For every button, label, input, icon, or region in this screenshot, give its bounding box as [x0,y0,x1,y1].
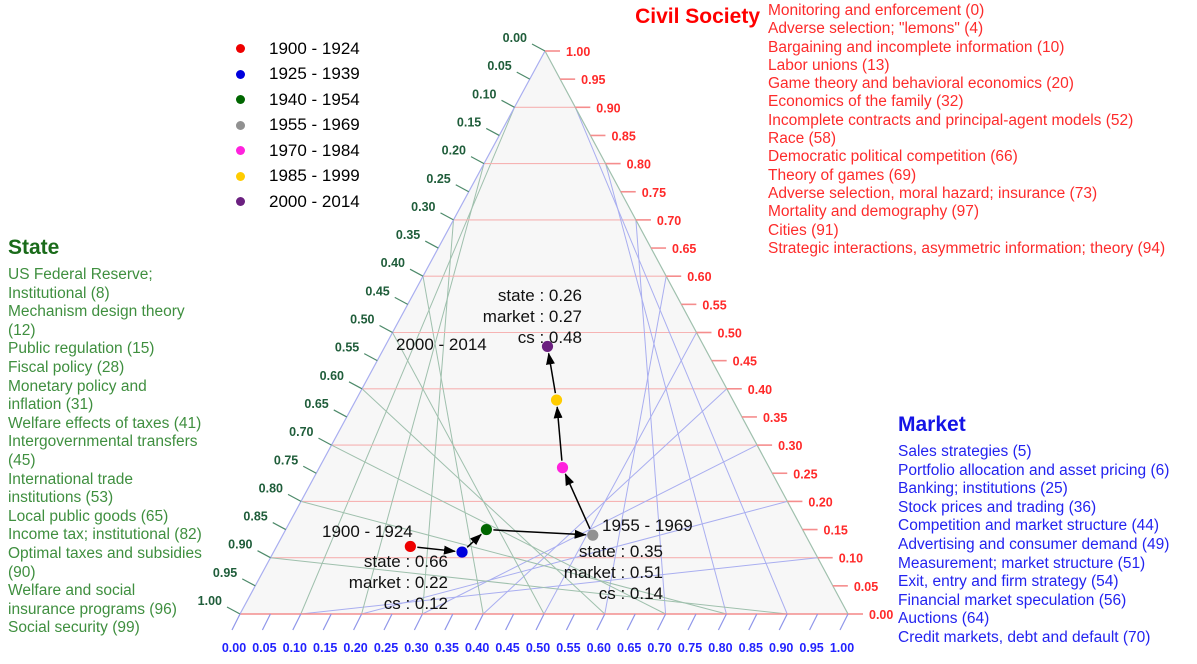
tick-label-left: 0.45 [365,284,389,298]
tick-label-right: 0.05 [854,580,878,594]
list-item: Social security (99) [8,619,254,638]
list-item: Stock prices and trading (36) [898,499,1197,518]
market-topic-list: Sales strategies (5)Portfolio allocation… [898,443,1197,648]
legend-color-dot-icon [236,70,245,79]
list-item: Cities (91) [768,222,1196,240]
state-panel: State US Federal Reserve; Institutional … [8,236,254,638]
tick-label-right: 0.00 [869,608,893,622]
tick-label-bottom: 0.50 [526,641,550,655]
list-item: Portfolio allocation and asset pricing (… [898,462,1197,481]
market-panel: Market Sales strategies (5)Portfolio all… [898,413,1197,648]
annotation-cs-value: cs : 0.12 [384,594,448,613]
list-item: Mortality and demography (97) [768,203,1196,221]
tick-label-bottom: 0.15 [313,641,337,655]
tick-mark-bottom [475,614,483,630]
list-item: Intergovernmental transfers (45) [8,433,254,470]
tick-mark-bottom [262,614,270,630]
list-item: Incomplete contracts and principal-agent… [768,112,1196,130]
data-point[interactable] [557,462,568,473]
list-item: Fiscal policy (28) [8,359,254,378]
list-item: Advertising and consumer demand (49) [898,536,1197,555]
tick-label-bottom: 0.10 [283,641,307,655]
list-item: Credit markets, debt and default (70) [898,629,1197,648]
tick-label-left: 0.50 [350,313,374,327]
annotation-cs-value: cs : 0.48 [518,328,582,347]
legend-item[interactable]: 1925 - 1939 [232,62,360,88]
data-point[interactable] [551,394,562,405]
list-item: Financial market speculation (56) [898,592,1197,611]
tick-mark-left [517,72,530,79]
legend-item[interactable]: 1970 - 1984 [232,138,360,164]
legend-item[interactable]: 1985 - 1999 [232,164,360,190]
tick-mark-bottom [749,614,757,630]
list-item: Auctions (64) [898,610,1197,629]
list-item: Bargaining and incomplete information (1… [768,39,1196,57]
legend-item[interactable]: 1940 - 1954 [232,87,360,113]
data-point[interactable] [405,541,416,552]
tick-label-bottom: 0.85 [739,641,763,655]
tick-mark-bottom [840,614,848,630]
legend-color-dot-icon [236,95,245,104]
annotation-state-value: state : 0.26 [498,286,582,305]
annotation-market-value: market : 0.22 [349,573,448,592]
tick-mark-bottom [293,614,301,630]
tick-mark-left [334,410,347,417]
tick-mark-left [258,551,271,558]
tick-label-right: 0.20 [808,495,832,509]
tick-label-bottom: 0.35 [435,641,459,655]
list-item: Monetary policy and inflation (31) [8,378,254,415]
tick-mark-left [502,100,515,107]
list-item: Monitoring and enforcement (0) [768,2,1196,20]
tick-label-right: 0.55 [702,298,726,312]
tick-mark-bottom [688,614,696,630]
tick-label-bottom: 0.70 [647,641,671,655]
list-item: Optimal taxes and subsidies (90) [8,545,254,582]
list-item: Public regulation (15) [8,340,254,359]
list-item: Income tax; institutional (82) [8,526,254,545]
list-item: Adverse selection; "lemons" (4) [768,20,1196,38]
tick-label-bottom: 0.00 [222,641,246,655]
legend-item-label: 2000 - 2014 [269,192,360,212]
tick-mark-left [380,326,393,333]
tick-label-right: 0.15 [824,524,848,538]
civil-society-topic-list: Monitoring and enforcement (0)Adverse se… [768,2,1196,258]
tick-mark-left [486,128,499,135]
tick-label-right: 0.40 [748,383,772,397]
tick-label-left: 0.35 [396,228,420,242]
list-item: Democratic political competition (66) [768,148,1196,166]
tick-label-right: 0.25 [793,467,817,481]
tick-label-bottom: 1.00 [830,641,854,655]
legend-item-label: 1925 - 1939 [269,64,360,84]
tick-mark-bottom [536,614,544,630]
tick-label-left: 0.15 [457,115,481,129]
annotation-state-value: state : 0.35 [579,542,663,561]
annotation-era-label: 1955 - 1969 [602,516,693,535]
civil-society-panel: Civil Society Monitoring and enforcement… [616,2,1196,258]
tick-label-left: 0.80 [259,481,283,495]
tick-mark-bottom [323,614,331,630]
tick-label-left: 0.20 [442,144,466,158]
annotation-era-label: 1900 - 1924 [322,522,413,541]
list-item: Welfare and social insurance programs (9… [8,582,254,619]
legend-color-dot-icon [236,197,245,206]
tick-mark-left [441,213,454,220]
tick-label-left: 0.55 [335,341,359,355]
annotation-state-value: state : 0.66 [364,552,448,571]
tick-label-bottom: 0.90 [769,641,793,655]
tick-mark-bottom [445,614,453,630]
list-item: International trade institutions (53) [8,471,254,508]
tick-mark-left [456,185,469,192]
tick-label-left: 0.00 [503,31,527,45]
tick-mark-bottom [658,614,666,630]
tick-mark-bottom [354,614,362,630]
legend-item[interactable]: 1955 - 1969 [232,113,360,139]
legend-item-label: 1985 - 1999 [269,166,360,186]
tick-label-left: 0.70 [289,425,313,439]
annotation-market-value: market : 0.27 [483,307,582,326]
tick-label-right: 0.35 [763,411,787,425]
era-legend: 1900 - 19241925 - 19391940 - 19541955 - … [232,36,360,215]
tick-label-bottom: 0.80 [708,641,732,655]
tick-label-left: 0.05 [487,59,511,73]
legend-color-dot-icon [236,146,245,155]
tick-mark-left [532,44,545,51]
list-item: Measurement; market structure (51) [898,555,1197,574]
list-item: Banking; institutions (25) [898,480,1197,499]
ternary-plot-screen: 0.000.050.100.150.200.250.300.350.400.45… [0,0,1197,664]
tick-label-right: 0.10 [839,552,863,566]
tick-label-bottom: 0.30 [404,641,428,655]
data-point[interactable] [481,524,492,535]
tick-mark-left [364,354,377,361]
tick-mark-left [410,269,423,276]
tick-label-bottom: 0.05 [252,641,276,655]
tick-mark-left [273,523,286,530]
tick-label-right: 1.00 [566,45,590,59]
legend-color-dot-icon [236,44,245,53]
legend-item-label: 1940 - 1954 [269,90,360,110]
legend-color-dot-icon [236,121,245,130]
tick-mark-bottom [384,614,392,630]
state-panel-title: State [8,236,254,260]
list-item: Adverse selection, moral hazard; insuran… [768,185,1196,203]
tick-label-left: 0.40 [381,256,405,270]
list-item: Sales strategies (5) [898,443,1197,462]
legend-item[interactable]: 1900 - 1924 [232,36,360,62]
tick-label-bottom: 0.55 [556,641,580,655]
tick-mark-left [303,466,316,473]
annotation-market-value: market : 0.51 [564,563,663,582]
list-item: US Federal Reserve; Institutional (8) [8,266,254,303]
list-item: Competition and market structure (44) [898,517,1197,536]
tick-label-bottom: 0.25 [374,641,398,655]
list-item: Labor unions (13) [768,57,1196,75]
tick-label-right: 0.50 [718,327,742,341]
tick-label-left: 0.65 [304,397,328,411]
list-item: Theory of games (69) [768,167,1196,185]
annotation-era-label: 2000 - 2014 [396,335,487,354]
tick-mark-bottom [506,614,514,630]
tick-label-bottom: 0.45 [495,641,519,655]
tick-mark-bottom [566,614,574,630]
civil-society-panel-title: Civil Society [616,5,760,29]
tick-label-left: 0.75 [274,453,298,467]
legend-item-label: 1970 - 1984 [269,141,360,161]
tick-label-right: 0.60 [687,270,711,284]
tick-label-bottom: 0.95 [799,641,823,655]
tick-mark-left [471,157,484,164]
tick-label-bottom: 0.20 [343,641,367,655]
legend-item-label: 1900 - 1924 [269,39,360,59]
tick-mark-left [319,438,332,445]
list-item: Local public goods (65) [8,508,254,527]
tick-label-bottom: 0.75 [678,641,702,655]
list-item: Race (58) [768,130,1196,148]
tick-label-right: 0.45 [733,355,757,369]
tick-mark-left [395,297,408,304]
legend-item-label: 1955 - 1969 [269,115,360,135]
tick-mark-left [288,494,301,501]
list-item: Exit, entry and firm strategy (54) [898,573,1197,592]
tick-label-left: 0.10 [472,87,496,101]
list-item: Game theory and behavioral economics (20… [768,75,1196,93]
tick-label-left: 0.25 [426,172,450,186]
tick-mark-bottom [597,614,605,630]
tick-mark-bottom [718,614,726,630]
tick-mark-bottom [627,614,635,630]
tick-mark-left [349,382,362,389]
list-item: Economics of the family (32) [768,93,1196,111]
tick-label-bottom: 0.40 [465,641,489,655]
list-item: Strategic interactions, asymmetric infor… [768,240,1196,258]
tick-label-left: 0.60 [320,369,344,383]
tick-label-bottom: 0.60 [587,641,611,655]
tick-mark-bottom [779,614,787,630]
tick-mark-bottom [810,614,818,630]
legend-color-dot-icon [236,172,245,181]
tick-label-bottom: 0.65 [617,641,641,655]
state-topic-list: US Federal Reserve; Institutional (8)Mec… [8,266,254,638]
annotation-cs-value: cs : 0.14 [599,584,663,603]
legend-item[interactable]: 2000 - 2014 [232,189,360,215]
market-panel-title: Market [898,413,1197,437]
tick-mark-bottom [414,614,422,630]
tick-mark-left [425,241,438,248]
tick-label-right: 0.95 [581,73,605,87]
tick-label-right: 0.30 [778,439,802,453]
list-item: Welfare effects of taxes (41) [8,415,254,434]
data-point[interactable] [587,530,598,541]
tick-label-left: 0.30 [411,200,435,214]
data-point[interactable] [456,546,467,557]
list-item: Mechanism design theory (12) [8,303,254,340]
